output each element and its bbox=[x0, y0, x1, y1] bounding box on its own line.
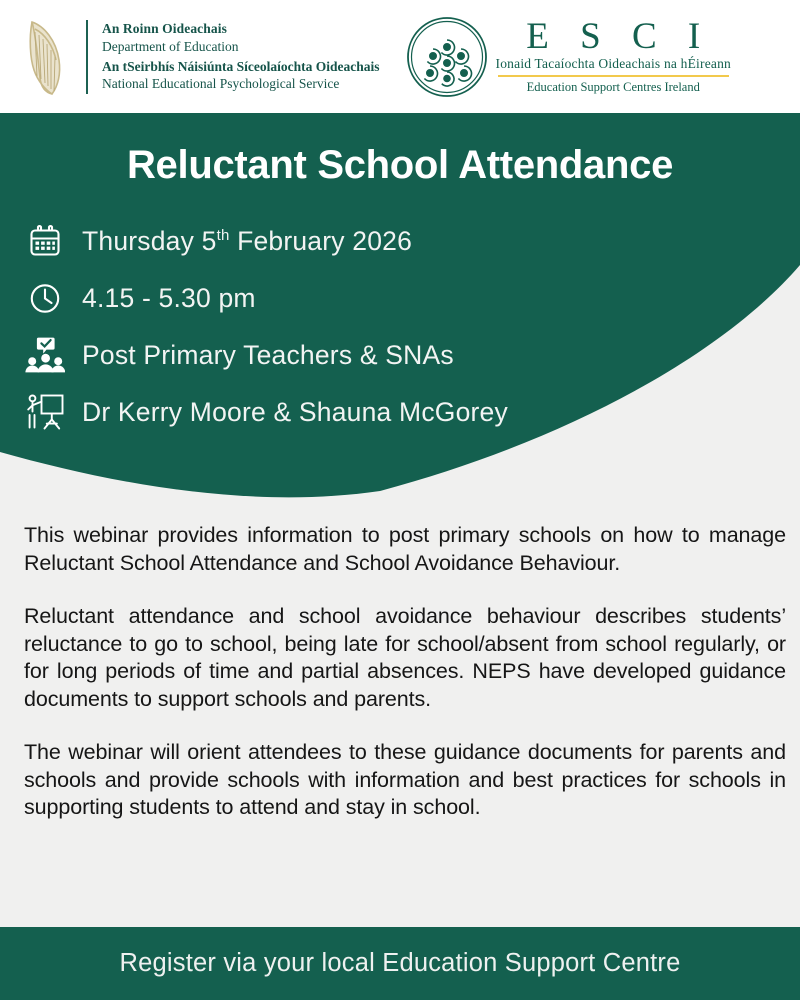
dept-line-irish-1: An Roinn Oideachais bbox=[102, 20, 380, 37]
body-paragraph-3: The webinar will orient attendees to the… bbox=[24, 739, 786, 822]
esci-logo: E S C I Ionaid Tacaíochta Oideachais na … bbox=[406, 16, 731, 98]
dept-line-english-1: Department of Education bbox=[102, 38, 380, 55]
registration-note: Register via your local Education Suppor… bbox=[120, 949, 681, 978]
esci-acronym: E S C I bbox=[496, 18, 731, 57]
irish-harp-icon bbox=[22, 16, 68, 98]
detail-label-presenters: Dr Kerry Moore & Shauna McGorey bbox=[82, 397, 508, 428]
detail-row-time: 4.15 - 5.30 pm bbox=[0, 275, 800, 321]
detail-row-presenters: Dr Kerry Moore & Shauna McGorey bbox=[0, 389, 800, 435]
audience-group-icon bbox=[22, 335, 68, 375]
logo-divider bbox=[86, 20, 88, 94]
clock-icon bbox=[22, 278, 68, 318]
detail-row-audience: Post Primary Teachers & SNAs bbox=[0, 332, 800, 378]
body-copy: This webinar provides information to pos… bbox=[24, 522, 786, 822]
esci-celtic-spirals-icon bbox=[406, 16, 488, 98]
department-of-education-logo: An Roinn Oideachais Department of Educat… bbox=[22, 16, 380, 98]
detail-label-date: Thursday 5th February 2026 bbox=[82, 226, 412, 257]
body-paragraph-2: Reluctant attendance and school avoidanc… bbox=[24, 603, 786, 713]
dept-line-english-2: National Educational Psychological Servi… bbox=[102, 75, 380, 92]
esci-subtitle-irish: Ionaid Tacaíochta Oideachais na hÉireann bbox=[496, 56, 731, 74]
presenter-whiteboard-icon bbox=[22, 392, 68, 432]
detail-label-audience: Post Primary Teachers & SNAs bbox=[82, 340, 454, 371]
dept-line-irish-2: An tSeirbhís Náisiúnta Síceolaíochta Oid… bbox=[102, 58, 380, 75]
esci-logo-text: E S C I Ionaid Tacaíochta Oideachais na … bbox=[496, 18, 731, 96]
department-logo-text: An Roinn Oideachais Department of Educat… bbox=[102, 20, 380, 92]
body-paragraph-1: This webinar provides information to pos… bbox=[24, 522, 786, 577]
detail-row-date: Thursday 5th February 2026 bbox=[0, 218, 800, 264]
webinar-poster: An Roinn Oideachais Department of Educat… bbox=[0, 0, 800, 1000]
logo-bar: An Roinn Oideachais Department of Educat… bbox=[0, 0, 800, 113]
footer-bar: Register via your local Education Suppor… bbox=[0, 927, 800, 1000]
page-title: Reluctant School Attendance bbox=[0, 143, 800, 188]
detail-label-time: 4.15 - 5.30 pm bbox=[82, 283, 256, 314]
esci-subtitle-english: Education Support Centres Ireland bbox=[496, 80, 731, 95]
calendar-icon bbox=[22, 221, 68, 261]
hero-content: Reluctant School Attendance bbox=[0, 113, 800, 446]
esci-gold-rule bbox=[498, 75, 729, 77]
webinar-details-list: Thursday 5th February 2026 4.15 - 5.30 p… bbox=[0, 218, 800, 435]
